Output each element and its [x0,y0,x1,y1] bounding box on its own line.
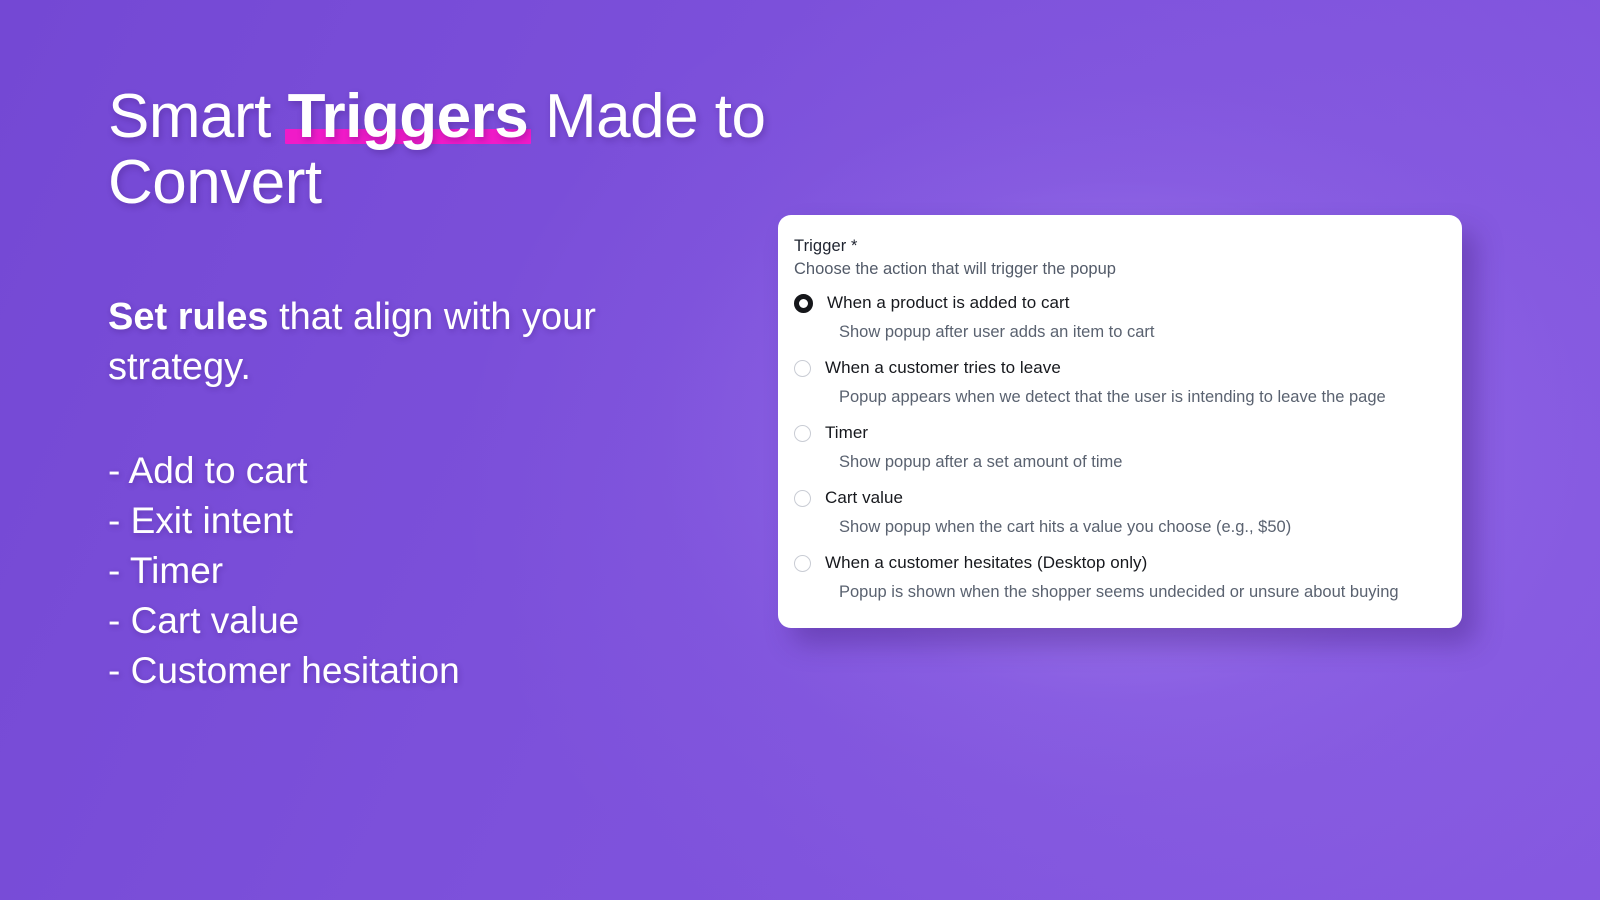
left-content-column: Smart Triggers Made to Convert Set rules… [108,84,808,215]
list-item: - Customer hesitation [108,646,460,696]
trigger-option-description: Show popup when the cart hits a value yo… [839,518,1444,537]
trigger-option-exit-intent[interactable]: When a customer tries to leave Popup app… [794,354,1444,407]
list-item: - Cart value [108,596,460,646]
radio-button-icon[interactable] [794,555,811,572]
list-item: - Exit intent [108,496,460,546]
list-item: - Timer [108,546,460,596]
trigger-option-add-to-cart[interactable]: When a product is added to cart Show pop… [794,289,1444,342]
trigger-option-title: Timer [825,423,868,443]
subheadline-bold: Set rules [108,296,269,338]
radio-button-icon[interactable] [794,294,813,313]
feature-bullet-list: - Add to cart - Exit intent - Timer - Ca… [108,446,460,696]
trigger-option-title: Cart value [825,488,903,508]
trigger-settings-card: Trigger * Choose the action that will tr… [778,215,1462,628]
slide-canvas: Smart Triggers Made to Convert Set rules… [0,0,1600,900]
radio-button-icon[interactable] [794,360,811,377]
trigger-option-description: Show popup after user adds an item to ca… [839,323,1444,342]
headline-highlight-text: Triggers [288,82,529,151]
list-item: - Add to cart [108,446,460,496]
headline-part-before: Smart [108,82,288,151]
trigger-option-description: Show popup after a set amount of time [839,453,1444,472]
trigger-option-title: When a product is added to cart [827,293,1070,313]
trigger-option-timer[interactable]: Timer Show popup after a set amount of t… [794,419,1444,472]
trigger-option-title: When a customer tries to leave [825,358,1061,378]
page-title: Smart Triggers Made to Convert [108,84,808,215]
trigger-option-description: Popup is shown when the shopper seems un… [839,583,1444,602]
headline-highlight-word: Triggers [288,84,529,150]
trigger-field-help: Choose the action that will trigger the … [794,260,1444,279]
trigger-option-title: When a customer hesitates (Desktop only) [825,553,1147,573]
radio-button-icon[interactable] [794,425,811,442]
trigger-field-label: Trigger * [794,237,1444,256]
radio-button-icon[interactable] [794,490,811,507]
trigger-option-cart-value[interactable]: Cart value Show popup when the cart hits… [794,484,1444,537]
subheadline: Set rules that align with your strategy. [108,292,688,392]
trigger-option-description: Popup appears when we detect that the us… [839,388,1444,407]
trigger-option-hesitation[interactable]: When a customer hesitates (Desktop only)… [794,549,1444,602]
